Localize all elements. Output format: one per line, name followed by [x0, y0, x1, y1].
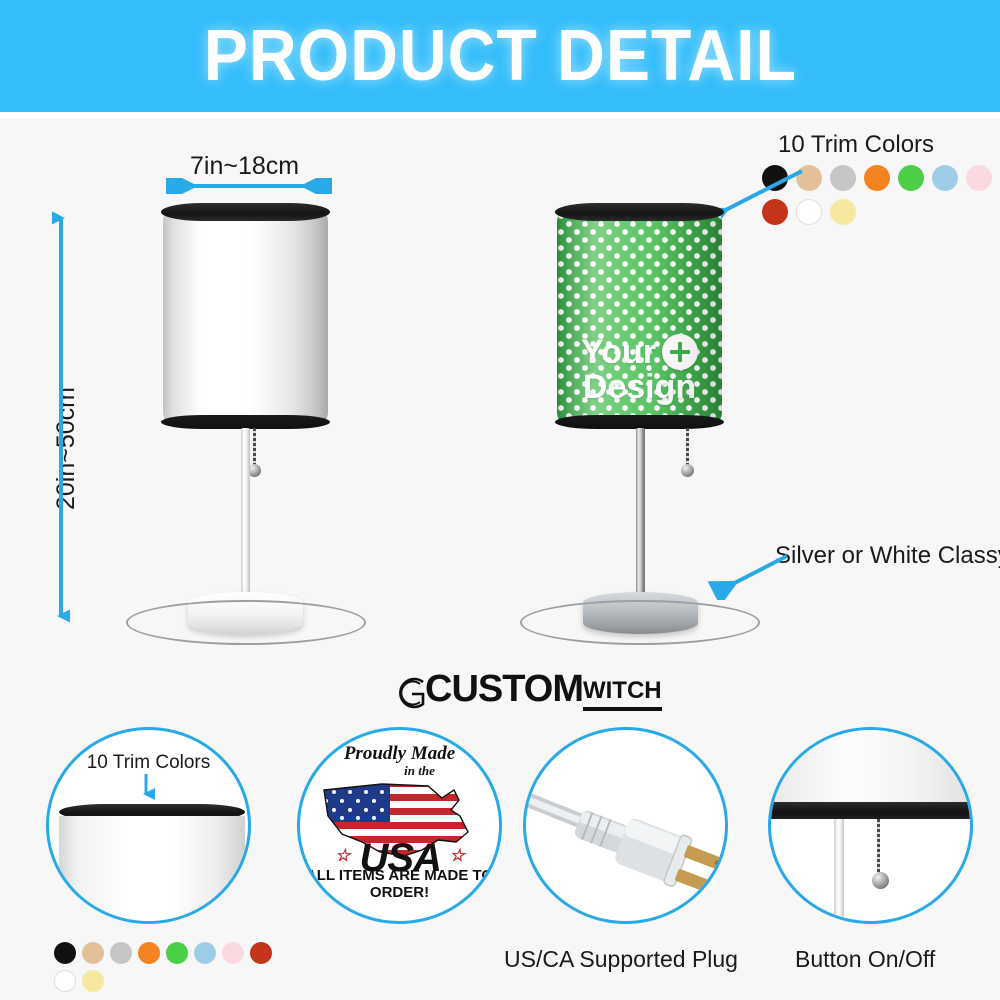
lampshade-top-trim: [555, 203, 724, 221]
trim-swatch-green[interactable]: [166, 942, 188, 964]
base-finish-label: Silver or White Classy: [775, 542, 1000, 570]
trim-swatch-green[interactable]: [898, 165, 924, 191]
page-title: PRODUCT DETAIL: [203, 15, 796, 97]
usa-heading-line1: Proudly Made: [344, 743, 455, 764]
brand-logo: CUSTOM WITCH: [393, 668, 662, 711]
trim-swatch-orange[interactable]: [864, 165, 890, 191]
usa-star-right: ☆: [450, 846, 464, 865]
zoom-shade-body: [59, 816, 245, 924]
product-detail-page: PRODUCT DETAIL 10 Trim Colors 7in~18cm 2…: [0, 0, 1000, 1000]
trim-swatch-white[interactable]: [54, 970, 76, 992]
design-line-1: Your: [581, 334, 698, 370]
header-divider: [0, 112, 1000, 118]
zoom-bottom-trim: [771, 802, 970, 819]
trim-swatch-gray[interactable]: [110, 942, 132, 964]
detail-circle-plug: [523, 727, 728, 924]
width-dimension-label: 7in~18cm: [190, 152, 299, 181]
height-dimension-arrow: [52, 208, 70, 626]
detail-circle-trim-colors: 10 Trim Colors: [46, 727, 251, 924]
lampshade-bottom-trim: [555, 415, 724, 429]
logo-sub-text: WITCH: [583, 677, 662, 711]
trim-swatch-orange[interactable]: [138, 942, 160, 964]
trim-swatch-yellow[interactable]: [82, 970, 104, 992]
pull-chain-ball[interactable]: [681, 464, 694, 477]
trim-down-arrow-icon: [137, 774, 155, 802]
caption-plug: US/CA Supported Plug: [504, 946, 738, 973]
trim-swatch-rust-red[interactable]: [250, 942, 272, 964]
trim-swatch-black[interactable]: [54, 942, 76, 964]
trim-swatch-pink[interactable]: [966, 165, 992, 191]
trim-swatch-light-blue[interactable]: [194, 942, 216, 964]
lamp-pole-silver: [636, 428, 645, 600]
width-dimension-arrow: [160, 178, 338, 194]
power-cord-loop: [126, 600, 366, 645]
design-word-design: Design: [583, 370, 696, 404]
lampshade-bottom-trim: [161, 415, 330, 429]
lampshade-white: [163, 212, 328, 422]
lamp-pole-white: [241, 428, 250, 600]
your-design-overlay: Your Design: [557, 334, 722, 404]
caption-switch: Button On/Off: [795, 946, 935, 973]
design-line-2: Design: [583, 370, 696, 404]
zoom-pull-chain[interactable]: [877, 819, 880, 877]
lampshade-white-surface: [163, 212, 328, 422]
zoom-shade-lower-body: [771, 730, 970, 804]
detail-circle-made-in-usa: Proudly Made in the: [297, 727, 502, 924]
header-banner: PRODUCT DETAIL: [0, 0, 1000, 112]
detail-circle-switch: [768, 727, 973, 924]
zoom-lamp-pole: [834, 819, 844, 924]
trim-swatch-pink[interactable]: [222, 942, 244, 964]
power-plug-icon: [526, 730, 725, 921]
lampshade-top-trim: [161, 203, 330, 221]
lampshade-gloss: [163, 212, 328, 422]
trim-color-swatches-bottom[interactable]: [54, 942, 294, 992]
usa-badge-heading: Proudly Made in the: [300, 744, 499, 778]
usa-badge-subtext: ALL ITEMS ARE MADE TO ORDER!: [300, 867, 499, 901]
lampshade-green: Your Design: [557, 212, 722, 422]
plus-icon[interactable]: [662, 334, 698, 370]
lampshade-green-surface: Your Design: [557, 212, 722, 422]
design-word-your: Your: [581, 335, 656, 369]
trim-swatch-light-blue[interactable]: [932, 165, 958, 191]
trim-colors-title-top: 10 Trim Colors: [778, 131, 934, 159]
power-cord-loop: [520, 600, 760, 645]
zoom-pull-chain-ball[interactable]: [872, 872, 889, 889]
trim-swatch-tan[interactable]: [82, 942, 104, 964]
usa-star-left: ☆: [335, 846, 349, 865]
trim-swatch-yellow[interactable]: [830, 199, 856, 225]
trim-swatch-gray[interactable]: [830, 165, 856, 191]
trim-colors-inner-label: 10 Trim Colors: [49, 752, 248, 774]
logo-main-text: CUSTOM: [425, 668, 583, 711]
custom-witch-c-icon: [393, 675, 427, 711]
base-finish-pointer-arrow: [705, 552, 795, 600]
